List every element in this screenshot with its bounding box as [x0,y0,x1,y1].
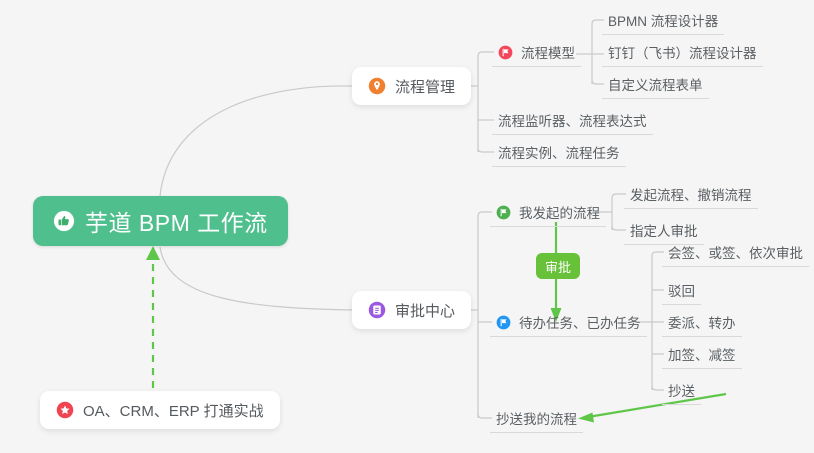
flag-icon-green [496,205,511,220]
node-todo-done-tasks[interactable]: 待办任务、已办任务 [490,312,647,337]
root-node[interactable]: 芋道 BPM 工作流 [33,196,288,246]
node-label: 抄送 [668,380,695,400]
node-label: 自定义流程表单 [608,74,703,94]
branch-label: 审批中心 [395,300,455,321]
cc-flow-arrow [578,394,726,423]
node-label: 钉钉（飞书）流程设计器 [608,42,757,62]
branch-label: 流程管理 [395,76,455,97]
node-my-started-process[interactable]: 我发起的流程 [490,202,606,227]
flag-icon-blue [496,315,511,330]
flag-icon-red [498,45,513,60]
node-cc-to-me-process[interactable]: 抄送我的流程 [490,408,583,433]
bottom-card-integration[interactable]: OA、CRM、ERP 打通实战 [40,391,280,429]
node-reject[interactable]: 驳回 [662,280,701,305]
mindmap-canvas: 芋道 BPM 工作流 流程管理 流程模型 BPMN 流程设计器 钉钉（飞书）流程… [0,0,814,453]
node-custom-process-form[interactable]: 自定义流程表单 [602,74,709,99]
node-label: 流程实例、流程任务 [498,142,620,162]
node-label: 加签、减签 [668,344,736,364]
node-label: 抄送我的流程 [496,408,577,428]
node-label: 委派、转办 [668,312,736,332]
node-process-model[interactable]: 流程模型 [492,42,581,67]
star-icon [56,401,74,419]
node-label: 指定人审批 [630,220,698,240]
node-countersign-modes[interactable]: 会签、或签、依次审批 [662,242,809,267]
node-label: 流程模型 [521,42,575,62]
node-label: 我发起的流程 [519,202,600,222]
thumbs-up-icon [53,210,75,232]
node-dingtalk-feishu-designer[interactable]: 钉钉（飞书）流程设计器 [602,42,763,67]
branch-process-management[interactable]: 流程管理 [352,67,471,105]
approval-badge: 审批 [536,253,580,279]
node-label: 流程监听器、流程表达式 [498,110,647,130]
node-label: 会签、或签、依次审批 [668,242,803,262]
approval-badge-label: 审批 [545,257,571,276]
node-process-instance-task[interactable]: 流程实例、流程任务 [492,142,626,167]
branch-approval-center[interactable]: 审批中心 [352,291,471,329]
node-label: 驳回 [668,280,695,300]
node-delegate-transfer[interactable]: 委派、转办 [662,312,742,337]
root-label: 芋道 BPM 工作流 [85,204,268,238]
node-cc[interactable]: 抄送 [662,380,701,405]
node-label: BPMN 流程设计器 [608,10,718,30]
node-start-cancel-process[interactable]: 发起流程、撤销流程 [624,184,758,209]
node-bpmn-designer[interactable]: BPMN 流程设计器 [602,10,724,35]
clipboard-icon [368,301,386,319]
integration-dashed-arrow [146,246,160,388]
location-pin-icon [368,77,386,95]
bottom-card-label: OA、CRM、ERP 打通实战 [83,400,264,421]
node-add-remove-sign[interactable]: 加签、减签 [662,344,742,369]
node-label: 发起流程、撤销流程 [630,184,752,204]
node-process-listener-expression[interactable]: 流程监听器、流程表达式 [492,110,653,135]
node-label: 待办任务、已办任务 [519,312,641,332]
